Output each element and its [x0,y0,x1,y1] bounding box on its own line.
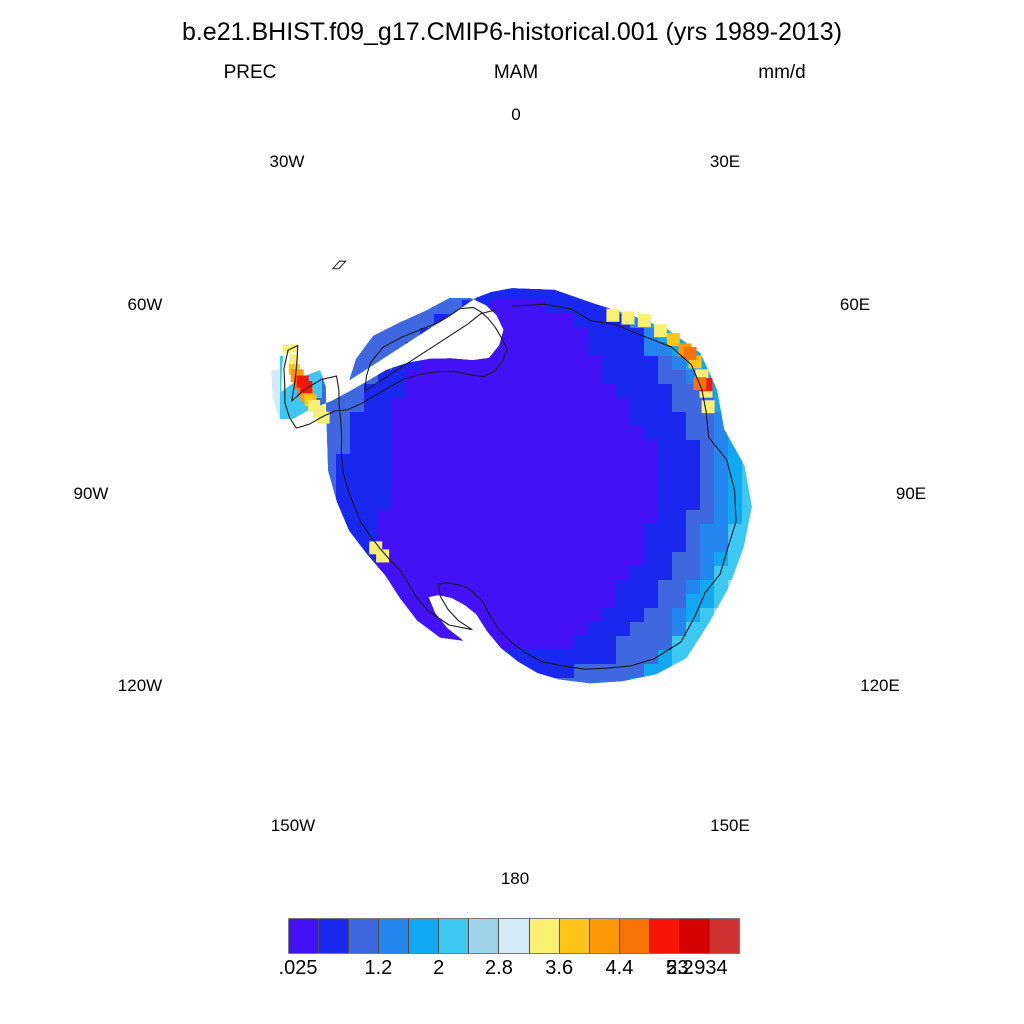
colorbar [288,918,740,954]
colorbar-tick-7: 23.934 [666,957,727,980]
colorbar-swatch-7 [499,919,529,953]
colorbar-swatch-1 [319,919,349,953]
colorbar-tick-2: 2 [433,957,444,980]
colorbar-swatch-6 [469,919,499,953]
colorbar-tick-5: 4.4 [606,957,634,980]
colorbar-swatch-14 [710,919,739,953]
colorbar-tick-labels: .0251.222.83.64.45.223.934 [240,957,800,987]
east-coast-patch-7 [702,400,715,413]
colorbar-swatch-2 [349,919,379,953]
colorbar-tick-1: 1.2 [364,957,392,980]
peninsula-patch-10 [318,412,330,424]
colorbar-tick-0: .025 [279,957,318,980]
units-label: mm/d [692,62,872,84]
colorbar-swatch-5 [439,919,469,953]
colorbar-swatch-11 [620,919,650,953]
page-title: b.e21.BHIST.f09_g17.CMIP6-historical.001… [0,18,1024,47]
precipitation-bands [224,174,784,776]
variable-label: PREC [160,62,340,84]
colorbar-swatch-12 [650,919,680,953]
colorbar-swatch-10 [590,919,620,953]
east-coast-patch-8 [621,312,634,325]
season-label: MAM [426,62,606,84]
colorbar-tick-3: 2.8 [485,957,513,980]
colorbar-tick-4: 3.6 [545,957,573,980]
figure-root: b.e21.BHIST.f09_g17.CMIP6-historical.001… [0,0,1024,1024]
colorbar-swatch-13 [680,919,710,953]
island-outline [333,261,346,269]
colorbar-swatch-8 [530,919,560,953]
east-coast-patch-2 [667,333,680,346]
colorbar-swatch-3 [379,919,409,953]
east-coast-patch-1 [654,324,667,337]
colorbar-swatch-4 [409,919,439,953]
map-canvas [0,90,1024,880]
east-coast-patch-9 [606,309,619,322]
east-coast-patch-0 [638,314,651,327]
east-coast-max-patch [684,347,697,360]
colorbar-swatch-0 [289,919,319,953]
colorbar-swatch-9 [560,919,590,953]
antarctica-precipitation-map [0,90,1024,880]
